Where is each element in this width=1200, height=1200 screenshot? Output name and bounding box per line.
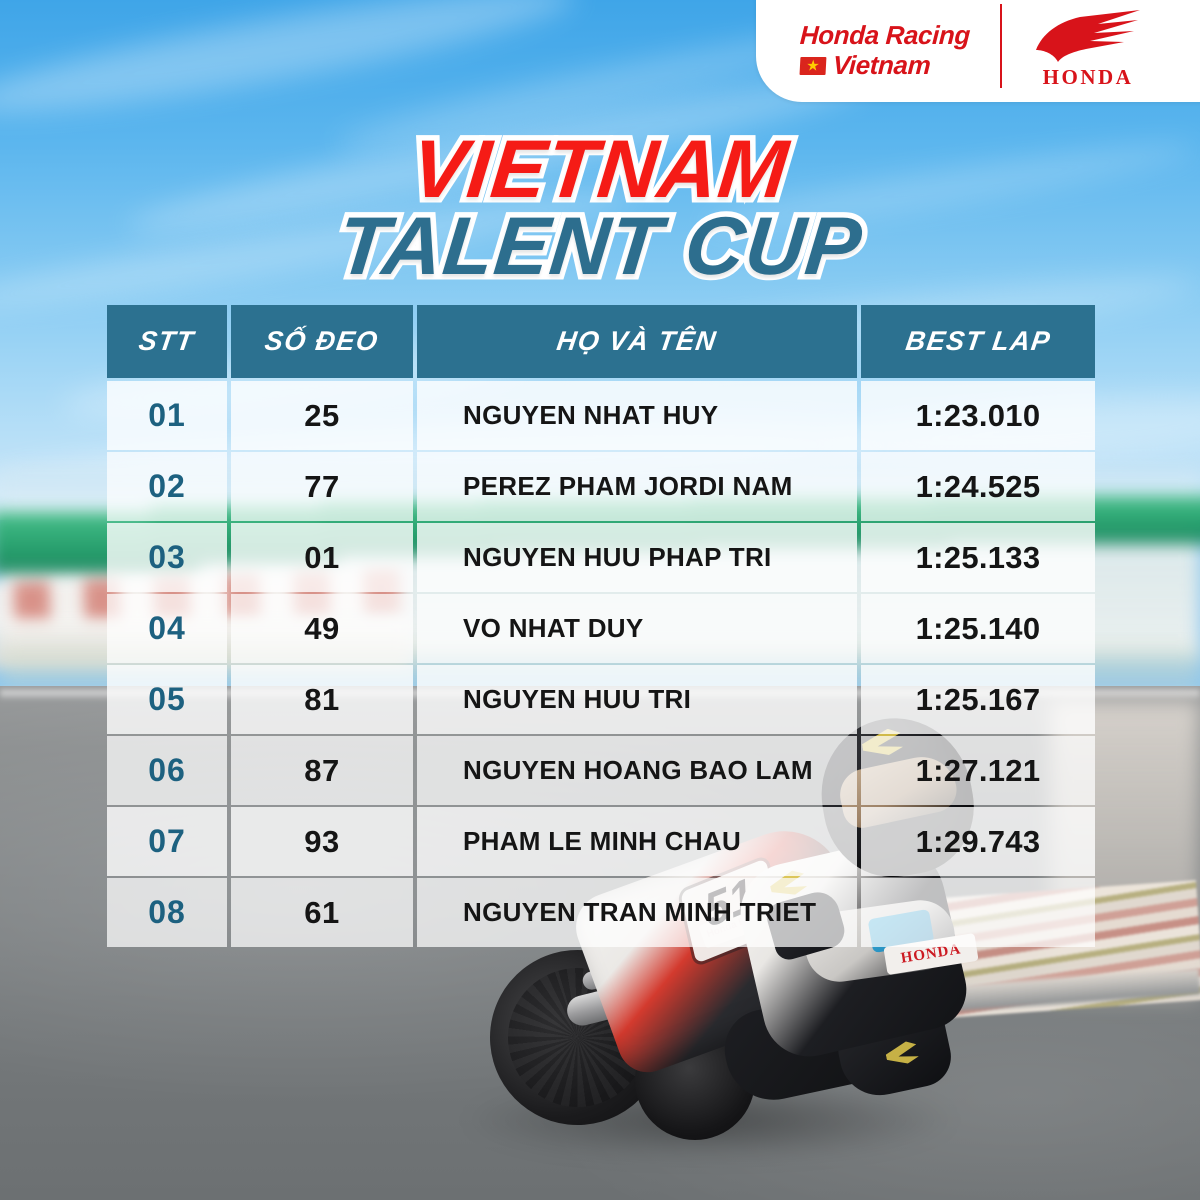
table-row: 0687NGUYEN HOANG BAO LAM1:27.121: [107, 736, 1095, 805]
rank-value: 07: [148, 823, 186, 860]
cell-number: 87: [231, 736, 413, 805]
number-value: 25: [304, 398, 339, 434]
cell-bestlap: [861, 878, 1095, 947]
bestlap-value: 1:29.743: [916, 824, 1041, 860]
table-row: 0125NGUYEN NHAT HUY1:23.010: [107, 381, 1095, 450]
bestlap-value: 1:25.167: [916, 682, 1041, 718]
column-header-number-label: SỐ ĐEO: [263, 326, 381, 357]
badge-line2: Vietnam: [832, 50, 931, 81]
cell-bestlap: 1:25.140: [861, 594, 1095, 663]
name-value: PHAM LE MINH CHAU: [463, 826, 741, 857]
cell-rank: 05: [107, 665, 227, 734]
column-header-bestlap: BEST LAP: [861, 305, 1095, 378]
name-value: VO NHAT DUY: [463, 613, 644, 644]
title-line-1: VIETNAM: [0, 132, 1200, 207]
cell-rank: 04: [107, 594, 227, 663]
cell-rank: 02: [107, 452, 227, 521]
honda-wordmark: HONDA: [1043, 65, 1134, 90]
cell-name: PEREZ PHAM JORDI NAM: [417, 452, 857, 521]
cell-name: NGUYEN HUU TRI: [417, 665, 857, 734]
name-value: NGUYEN TRAN MINH TRIET: [463, 897, 816, 928]
table-row: 0449VO NHAT DUY1:25.140: [107, 594, 1095, 663]
table-row: 0301NGUYEN HUU PHAP TRI1:25.133: [107, 523, 1095, 592]
number-value: 61: [304, 895, 339, 931]
column-header-name: HỌ VÀ TÊN: [417, 305, 857, 378]
rank-value: 03: [148, 539, 186, 576]
column-header-bestlap-label: BEST LAP: [903, 326, 1052, 357]
column-header-stt-label: STT: [137, 326, 197, 357]
cell-number: 01: [231, 523, 413, 592]
honda-racing-badge: Honda Racing ★ Vietnam HONDA: [756, 0, 1200, 102]
bestlap-value: 1:25.140: [916, 611, 1041, 647]
star-glyph: ★: [806, 58, 820, 73]
table-row: 0581NGUYEN HUU TRI1:25.167: [107, 665, 1095, 734]
bestlap-value: 1:24.525: [916, 469, 1041, 505]
table-row: 0861NGUYEN TRAN MINH TRIET: [107, 878, 1095, 947]
cell-bestlap: 1:25.167: [861, 665, 1095, 734]
badge-line1: Honda Racing: [799, 21, 970, 49]
cell-name: NGUYEN HUU PHAP TRI: [417, 523, 857, 592]
cell-number: 61: [231, 878, 413, 947]
name-value: PEREZ PHAM JORDI NAM: [463, 471, 793, 502]
cell-rank: 07: [107, 807, 227, 876]
name-value: NGUYEN NHAT HUY: [463, 400, 718, 431]
cell-number: 77: [231, 452, 413, 521]
table-body: 0125NGUYEN NHAT HUY1:23.0100277PEREZ PHA…: [107, 381, 1095, 947]
badge-divider: [1000, 4, 1002, 88]
results-table: STT SỐ ĐEO HỌ VÀ TÊN BEST LAP 0125NGUYEN…: [107, 305, 1095, 949]
cell-number: 49: [231, 594, 413, 663]
cell-name: PHAM LE MINH CHAU: [417, 807, 857, 876]
badge-line2-row: ★ Vietnam: [799, 50, 971, 81]
rank-value: 08: [148, 894, 186, 931]
number-value: 87: [304, 753, 339, 789]
name-value: NGUYEN HUU PHAP TRI: [463, 542, 772, 573]
honda-wing-icon: [1028, 8, 1148, 64]
page-title: VIETNAM TALENT CUP: [0, 132, 1200, 285]
cell-rank: 01: [107, 381, 227, 450]
table-header-row: STT SỐ ĐEO HỌ VÀ TÊN BEST LAP: [107, 305, 1095, 378]
bestlap-value: 1:27.121: [916, 753, 1041, 789]
table-row: 0793PHAM LE MINH CHAU1:29.743: [107, 807, 1095, 876]
cell-bestlap: 1:27.121: [861, 736, 1095, 805]
cell-rank: 03: [107, 523, 227, 592]
cell-name: VO NHAT DUY: [417, 594, 857, 663]
rank-value: 04: [148, 610, 186, 647]
cell-rank: 06: [107, 736, 227, 805]
column-header-name-label: HỌ VÀ TÊN: [555, 326, 719, 357]
column-header-stt: STT: [107, 305, 227, 378]
rank-value: 01: [148, 397, 186, 434]
number-value: 93: [304, 824, 339, 860]
rank-value: 02: [148, 468, 186, 505]
vietnam-flag-icon: ★: [800, 57, 827, 75]
number-value: 77: [304, 469, 339, 505]
cell-bestlap: 1:29.743: [861, 807, 1095, 876]
title-line-2: TALENT CUP: [0, 209, 1200, 284]
rank-value: 05: [148, 681, 186, 718]
cell-bestlap: 1:23.010: [861, 381, 1095, 450]
honda-logo: HONDA: [1028, 2, 1148, 90]
name-value: NGUYEN HOANG BAO LAM: [463, 755, 813, 786]
rank-value: 06: [148, 752, 186, 789]
cell-rank: 08: [107, 878, 227, 947]
number-value: 01: [304, 540, 339, 576]
number-value: 81: [304, 682, 339, 718]
badge-text: Honda Racing ★ Vietnam: [756, 11, 970, 81]
cell-number: 81: [231, 665, 413, 734]
bestlap-value: 1:23.010: [916, 398, 1041, 434]
cell-name: NGUYEN NHAT HUY: [417, 381, 857, 450]
column-header-number: SỐ ĐEO: [231, 305, 413, 378]
cell-number: 25: [231, 381, 413, 450]
name-value: NGUYEN HUU TRI: [463, 684, 691, 715]
table-row: 0277PEREZ PHAM JORDI NAM1:24.525: [107, 452, 1095, 521]
number-value: 49: [304, 611, 339, 647]
cell-name: NGUYEN HOANG BAO LAM: [417, 736, 857, 805]
cell-number: 93: [231, 807, 413, 876]
bestlap-value: 1:25.133: [916, 540, 1041, 576]
cell-name: NGUYEN TRAN MINH TRIET: [417, 878, 857, 947]
cell-bestlap: 1:25.133: [861, 523, 1095, 592]
cell-bestlap: 1:24.525: [861, 452, 1095, 521]
